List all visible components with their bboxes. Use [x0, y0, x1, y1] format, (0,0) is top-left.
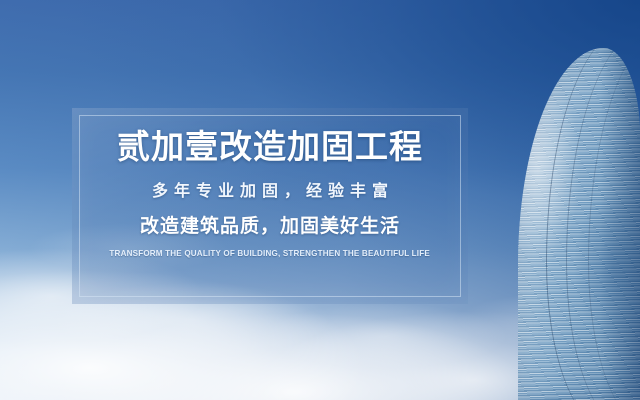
banner-subtitle-secondary: 改造建筑品质，加固美好生活 [140, 217, 400, 236]
tower-edge-shading [600, 48, 640, 400]
hero-banner: 贰加壹改造加固工程 多年专业加固，经验丰富 改造建筑品质，加固美好生活 TRAN… [0, 0, 640, 400]
glass-skyscraper [518, 48, 640, 400]
text-panel: 贰加壹改造加固工程 多年专业加固，经验丰富 改造建筑品质，加固美好生活 TRAN… [72, 108, 468, 304]
banner-subtitle-primary: 多年专业加固，经验丰富 [146, 184, 394, 200]
banner-title: 贰加壹改造加固工程 [117, 130, 423, 163]
panel-content: 贰加壹改造加固工程 多年专业加固，经验丰富 改造建筑品质，加固美好生活 TRAN… [72, 108, 468, 304]
banner-subtitle-english: TRANSFORM THE QUALITY OF BUILDING, STREN… [110, 249, 431, 258]
